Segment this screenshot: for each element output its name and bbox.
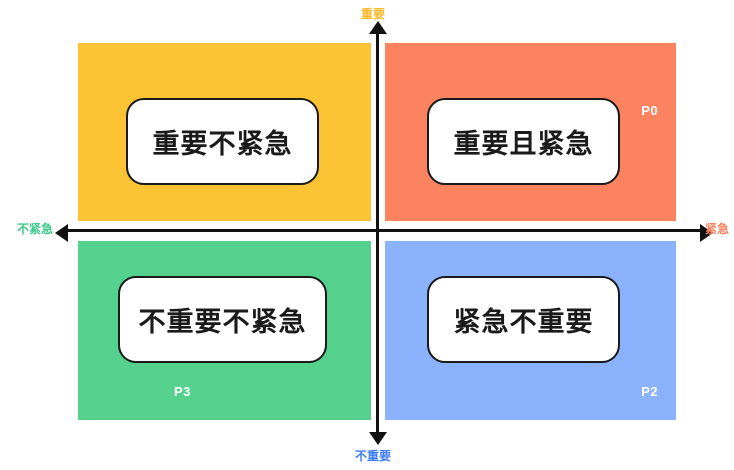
quadrant-label-box-p3: 不重要不紧急 [118, 276, 327, 363]
horizontal-axis-line [64, 229, 702, 232]
axis-label-urgent: 紧急 [705, 223, 729, 235]
quadrant-tag-p2: P2 [641, 385, 658, 398]
priority-matrix-diagram: P1 P0 P3 P2 重要 不重要 不紧急 紧急 重要不紧急 重要且紧急 不重… [0, 0, 734, 470]
arrow-down-icon [369, 432, 387, 445]
quadrant-label-box-p2: 紧急不重要 [427, 276, 620, 363]
arrow-up-icon [369, 21, 387, 34]
axis-label-not-important: 不重要 [355, 450, 391, 462]
vertical-axis-line [376, 30, 379, 433]
axis-label-not-urgent: 不紧急 [17, 223, 53, 235]
quadrant-label-box-p0: 重要且紧急 [427, 98, 620, 185]
quadrant-tag-p3: P3 [174, 385, 191, 398]
arrow-left-icon [55, 224, 68, 242]
quadrant-label-box-p1: 重要不紧急 [126, 98, 319, 185]
quadrant-tag-p0: P0 [641, 104, 658, 117]
axis-label-important: 重要 [361, 8, 385, 20]
